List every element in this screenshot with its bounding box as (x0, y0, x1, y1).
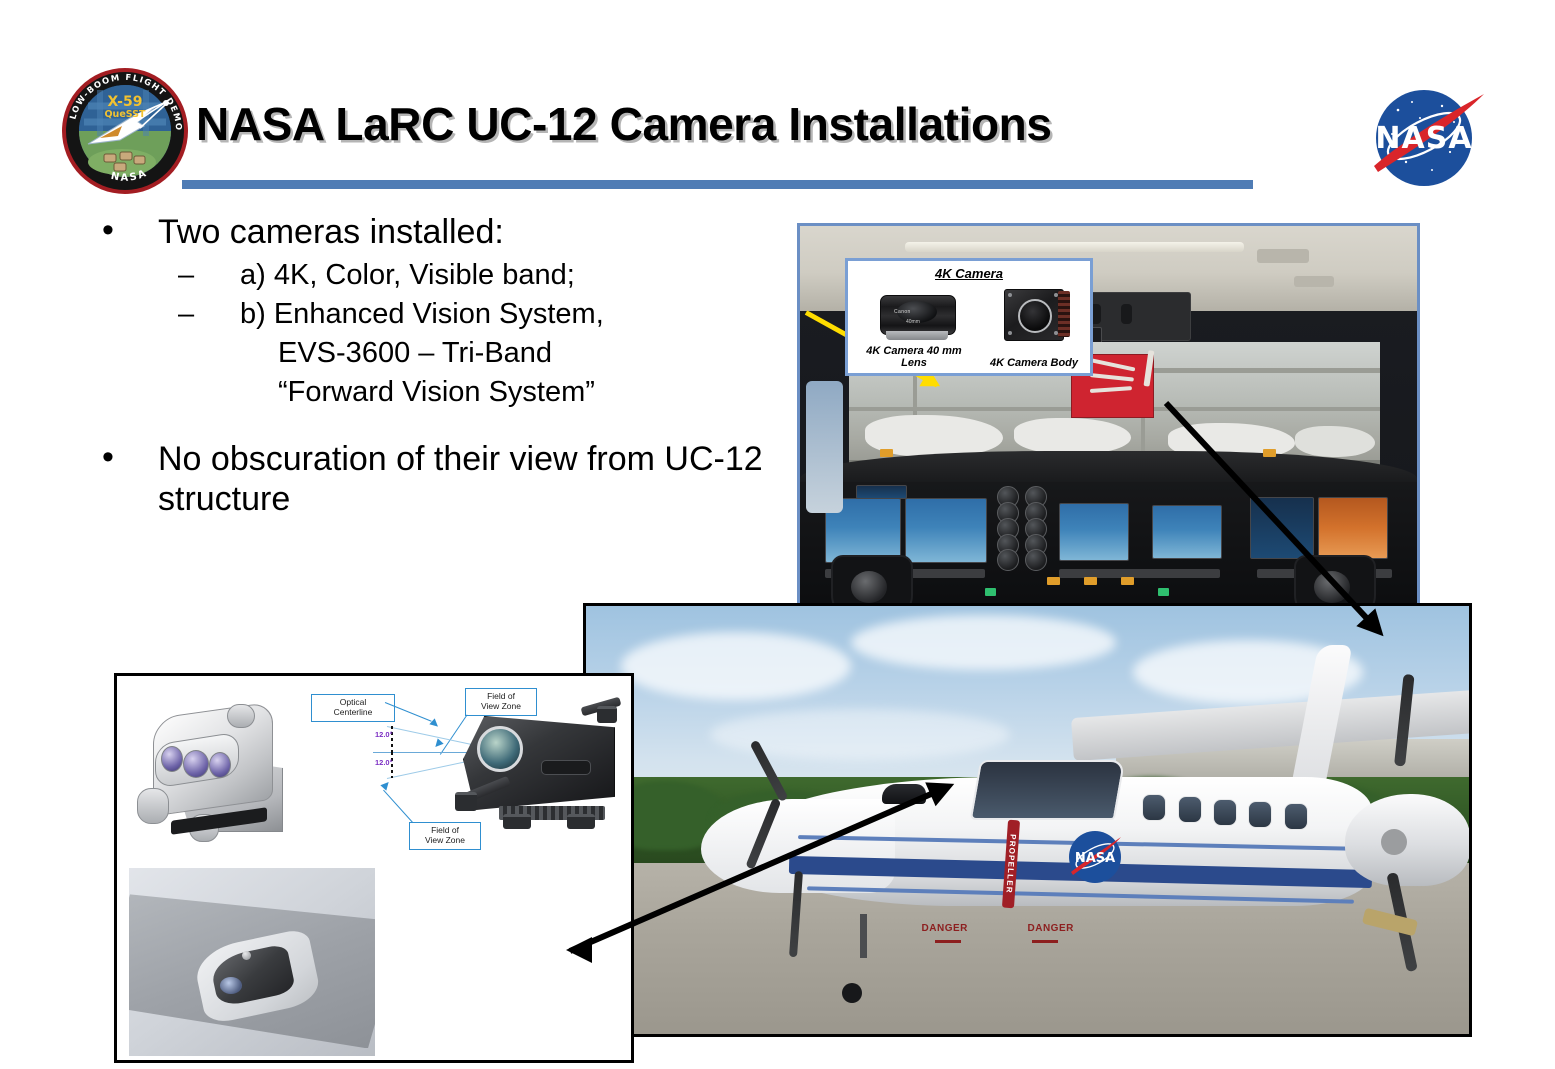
cabin-window (1284, 803, 1308, 830)
callout-line-2: Centerline (316, 708, 390, 718)
cockpit-switch (1121, 304, 1132, 324)
nasa-meatball-logo-icon: NASA (1362, 78, 1490, 200)
x59-quesst-mission-patch-icon: X-59 QueSST LOW-BOOM FLIGHT DEMONSTRATIO… (60, 66, 190, 196)
bullet-text: b) Enhanced Vision System, (240, 298, 604, 330)
cockpit-vent (1257, 249, 1309, 263)
bullet-marker-dash: – (178, 297, 194, 332)
svg-text:NASA: NASA (1075, 851, 1115, 866)
bullet-list: • Two cameras installed: – a) 4K, Color,… (80, 212, 800, 526)
bullet-continuation-line-1: EVS-3600 – Tri-Band (80, 336, 800, 371)
callout-optical-centerline: Optical Centerline (311, 694, 395, 722)
bullet-marker-dot: • (102, 437, 114, 477)
inset-title: 4K Camera (848, 266, 1090, 281)
cockpit-mfd-left (905, 498, 987, 563)
cockpit-center-display-2 (1152, 505, 1222, 560)
inset-body-caption: 4K Camera Body (976, 357, 1092, 369)
aircraft-scene: NASA PROPELLER DANGER DANGER (586, 606, 1469, 1034)
nose-landing-gear (860, 914, 867, 958)
aircraft-windscreen (969, 760, 1125, 820)
4k-camera-body-image (1000, 285, 1072, 343)
cockpit-vent (1294, 276, 1334, 287)
bullet-level2-item-b: – b) Enhanced Vision System, (80, 297, 800, 332)
fuselage-nasa-meatball-icon: NASA (1067, 829, 1123, 885)
svg-text:X-59: X-59 (108, 94, 143, 110)
bullet-level1-item: • Two cameras installed: (80, 212, 800, 252)
4k-camera-inset-card[interactable]: 4K Camera Canon 40mm 4K Camera 40 mm Len… (845, 258, 1093, 376)
nose-gear-wheel (842, 983, 862, 1003)
slide-header: X-59 QueSST LOW-BOOM FLIGHT DEMONSTRATIO… (0, 0, 1555, 205)
bullet-text: No obscuration of their view from UC-12 … (158, 440, 763, 518)
bullet-marker-dot: • (102, 210, 114, 250)
fov-angle-upper: 12.0° (375, 730, 393, 739)
propeller-spinner (1381, 829, 1407, 855)
cabin-window (1248, 801, 1272, 828)
bullet-marker-dash: – (178, 258, 194, 293)
svg-text:QueSST: QueSST (104, 109, 146, 120)
bullet-continuation-line-2: “Forward Vision System” (80, 375, 800, 410)
lens-brand-label: Canon (894, 309, 911, 315)
cockpit-side-window (806, 381, 843, 513)
bullet-level1-item-2: • No obscuration of their view from UC-1… (80, 439, 800, 519)
cockpit-small-display (856, 485, 907, 499)
danger-label-left: DANGER (922, 923, 968, 934)
cockpit-center-display-1 (1059, 503, 1129, 560)
svg-text:NASA: NASA (1375, 121, 1472, 156)
cabin-window (1178, 796, 1202, 823)
page-title: NASA LaRC UC-12 Camera Installations (196, 97, 1296, 151)
cabin-window (1213, 799, 1237, 826)
bullet-text: a) 4K, Color, Visible band; (240, 259, 575, 291)
bullet-level2-item-a: – a) 4K, Color, Visible band; (80, 258, 800, 293)
inset-lens-caption: 4K Camera 40 mm Lens (852, 345, 976, 369)
canon-40mm-lens-image: Canon 40mm (880, 289, 954, 341)
cockpit-mfd-right (1318, 497, 1388, 560)
cockpit-light-bar (905, 242, 1244, 252)
cockpit-instrument-panel (800, 482, 1417, 614)
evs-sensor-head-render (131, 688, 301, 853)
evs-lens-2 (183, 750, 209, 778)
evs-field-of-view-diagram: Optical Centerline Field of View Zone Fi… (303, 682, 625, 858)
cabin-window (1142, 794, 1166, 821)
evs-fuselage-installation-cad (129, 868, 375, 1056)
danger-label-right: DANGER (1028, 923, 1074, 934)
engine-nacelle (1345, 794, 1469, 886)
evs-lens-3 (209, 752, 231, 778)
title-underline-rule (182, 180, 1253, 189)
lens-focal-label: 40mm (906, 319, 920, 325)
evs-3600-diagram-panel[interactable]: Optical Centerline Field of View Zone Fi… (114, 673, 634, 1063)
bullet-text: Two cameras installed: (158, 213, 504, 251)
fov-angle-lower: 12.0° (375, 758, 393, 767)
uc12-aircraft-photo[interactable]: NASA PROPELLER DANGER DANGER (583, 603, 1472, 1037)
evs-lens-1 (161, 746, 183, 772)
evs-side-view-render (455, 702, 623, 842)
